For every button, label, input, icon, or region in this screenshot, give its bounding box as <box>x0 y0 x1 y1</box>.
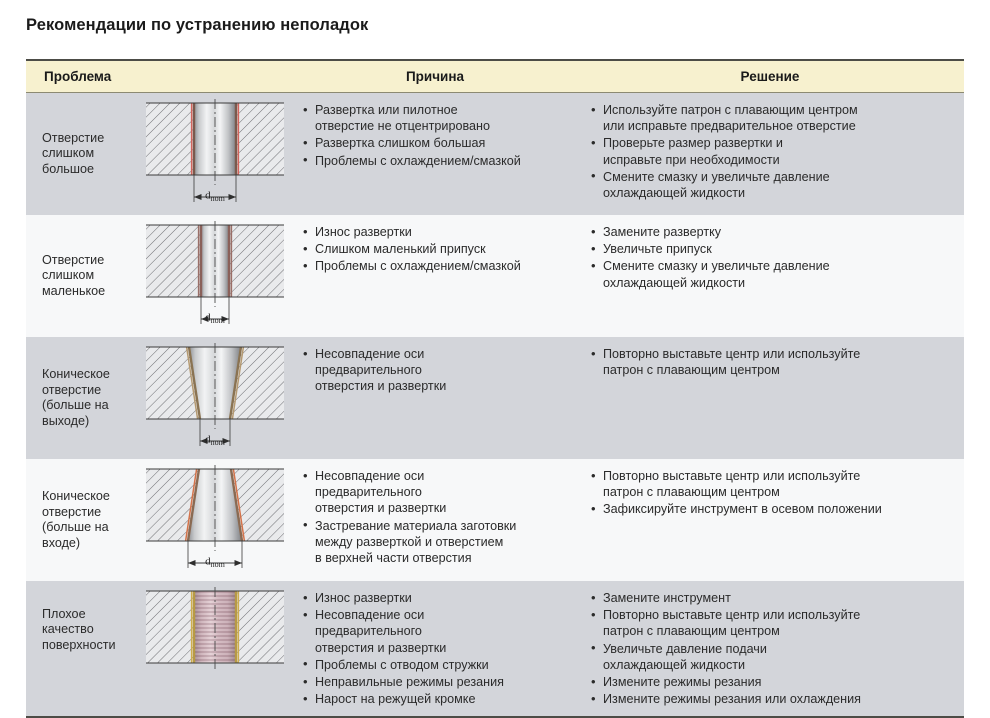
solution-item: Используйте патрон с плавающим центром и… <box>588 102 956 134</box>
solution-cell: Повторно выставьте центр или используйте… <box>576 337 964 459</box>
cause-item: Слишком маленький припуск <box>300 241 568 257</box>
cause-item: Нарост на режущей кромке <box>300 691 568 707</box>
solution-item: Замените развертку <box>588 224 956 240</box>
svg-text:dnom: dnom <box>205 312 226 326</box>
solution-list: Повторно выставьте центр или используйте… <box>576 337 964 387</box>
hole-cross-section-diagram: dnom <box>144 221 286 331</box>
problem-cell: Коническое отверстие (больше на выходе) <box>26 337 294 459</box>
solution-item: Измените режимы резания или охлаждения <box>588 691 956 707</box>
solution-item: Замените инструмент <box>588 590 956 606</box>
problem-label: Отверстие слишком большое <box>42 131 138 178</box>
hole-cross-section-diagram: dnom <box>144 343 286 453</box>
troubleshooting-table: Проблема Причина Решение Отверстие слишк… <box>26 61 964 716</box>
svg-text:dnom: dnom <box>205 434 226 448</box>
hole-cross-section-diagram <box>144 587 286 673</box>
cause-item: Развертка слишком большая <box>300 135 568 151</box>
cause-list: Износ разверткиСлишком маленький припуск… <box>294 215 576 284</box>
solution-item: Измените режимы резания <box>588 674 956 690</box>
column-header-cause: Причина <box>294 61 576 93</box>
table-row: Отверстие слишком маленькое <box>26 215 964 337</box>
solution-list: Повторно выставьте центр или используйте… <box>576 459 964 527</box>
problem-cell: Коническое отверстие (больше на входе) <box>26 459 294 581</box>
cause-cell: Несовпадение оси предварительного отверс… <box>294 459 576 581</box>
problem-label: Коническое отверстие (больше на выходе) <box>42 367 138 429</box>
solution-item: Увеличьте давление подачи охлаждающей жи… <box>588 641 956 673</box>
problem-cell: Плохое качество поверхности <box>26 581 294 716</box>
table-row: Отверстие слишком большое <box>26 93 964 216</box>
table-row: Коническое отверстие (больше на выходе) <box>26 337 964 459</box>
solution-cell: Повторно выставьте центр или используйте… <box>576 459 964 581</box>
cause-item: Несовпадение оси предварительного отверс… <box>300 607 568 656</box>
cause-list: Несовпадение оси предварительного отверс… <box>294 459 576 575</box>
table-body: Отверстие слишком большое <box>26 93 964 717</box>
solution-item: Увеличьте припуск <box>588 241 956 257</box>
cause-item: Проблемы с охлаждением/смазкой <box>300 153 568 169</box>
solution-item: Зафиксируйте инструмент в осевом положен… <box>588 501 956 517</box>
cause-item: Неправильные режимы резания <box>300 674 568 690</box>
problem-label: Плохое качество поверхности <box>42 607 138 654</box>
solution-cell: Замените инструментПовторно выставьте це… <box>576 581 964 716</box>
cause-item: Развертка или пилотное отверстие не отце… <box>300 102 568 134</box>
solution-item: Повторно выставьте центр или используйте… <box>588 607 956 639</box>
solution-list: Замените разверткуУвеличьте припускСмени… <box>576 215 964 300</box>
solution-cell: Используйте патрон с плавающим центром и… <box>576 93 964 216</box>
problem-cell-inner: Плохое качество поверхности <box>26 581 294 679</box>
cause-cell: Развертка или пилотное отверстие не отце… <box>294 93 576 216</box>
problem-cell-inner: Коническое отверстие (больше на выходе) <box>26 337 294 459</box>
table-row: Плохое качество поверхности Износ ра <box>26 581 964 716</box>
cause-list: Развертка или пилотное отверстие не отце… <box>294 93 576 178</box>
table-header: Проблема Причина Решение <box>26 61 964 93</box>
cause-item: Износ развертки <box>300 590 568 606</box>
cause-item: Износ развертки <box>300 224 568 240</box>
page-title: Рекомендации по устранению неполадок <box>26 16 368 35</box>
solution-item: Смените смазку и увеличьте давление охла… <box>588 258 956 290</box>
column-header-problem: Проблема <box>26 61 294 93</box>
header-row: Проблема Причина Решение <box>26 61 964 93</box>
cause-item: Несовпадение оси предварительного отверс… <box>300 468 568 517</box>
problem-cell-inner: Отверстие слишком большое <box>26 93 294 215</box>
column-header-solution: Решение <box>576 61 964 93</box>
solution-item: Повторно выставьте центр или используйте… <box>588 468 956 500</box>
hole-cross-section-diagram: dnom <box>144 465 286 575</box>
solution-list: Замените инструментПовторно выставьте це… <box>576 581 964 716</box>
problem-cell-inner: Коническое отверстие (больше на входе) <box>26 459 294 581</box>
troubleshooting-table-wrapper: Проблема Причина Решение Отверстие слишк… <box>26 59 964 718</box>
problem-label: Коническое отверстие (больше на входе) <box>42 489 138 551</box>
problem-cell-inner: Отверстие слишком маленькое <box>26 215 294 337</box>
table-row: Коническое отверстие (больше на входе) <box>26 459 964 581</box>
solution-item: Проверьте размер развертки и исправьте п… <box>588 135 956 167</box>
problem-cell: Отверстие слишком большое <box>26 93 294 216</box>
troubleshooting-page: Рекомендации по устранению неполадок Про… <box>0 0 990 697</box>
problem-label: Отверстие слишком маленькое <box>42 253 138 300</box>
solution-item: Повторно выставьте центр или используйте… <box>588 346 956 378</box>
cause-cell: Несовпадение оси предварительного отверс… <box>294 337 576 459</box>
hole-cross-section-diagram: dnom <box>144 99 286 209</box>
cause-cell: Износ разверткиСлишком маленький припуск… <box>294 215 576 337</box>
solution-list: Используйте патрон с плавающим центром и… <box>576 93 964 210</box>
svg-text:dnom: dnom <box>205 190 226 204</box>
cause-list: Износ разверткиНесовпадение оси предвари… <box>294 581 576 716</box>
problem-cell: Отверстие слишком маленькое <box>26 215 294 337</box>
cause-list: Несовпадение оси предварительного отверс… <box>294 337 576 404</box>
cause-item: Несовпадение оси предварительного отверс… <box>300 346 568 395</box>
cause-item: Проблемы с охлаждением/смазкой <box>300 258 568 274</box>
cause-item: Застревание материала заготовки между ра… <box>300 518 568 567</box>
cause-item: Проблемы с отводом стружки <box>300 657 568 673</box>
solution-cell: Замените разверткуУвеличьте припускСмени… <box>576 215 964 337</box>
cause-cell: Износ разверткиНесовпадение оси предвари… <box>294 581 576 716</box>
solution-item: Смените смазку и увеличьте давление охла… <box>588 169 956 201</box>
svg-text:dnom: dnom <box>205 556 226 570</box>
